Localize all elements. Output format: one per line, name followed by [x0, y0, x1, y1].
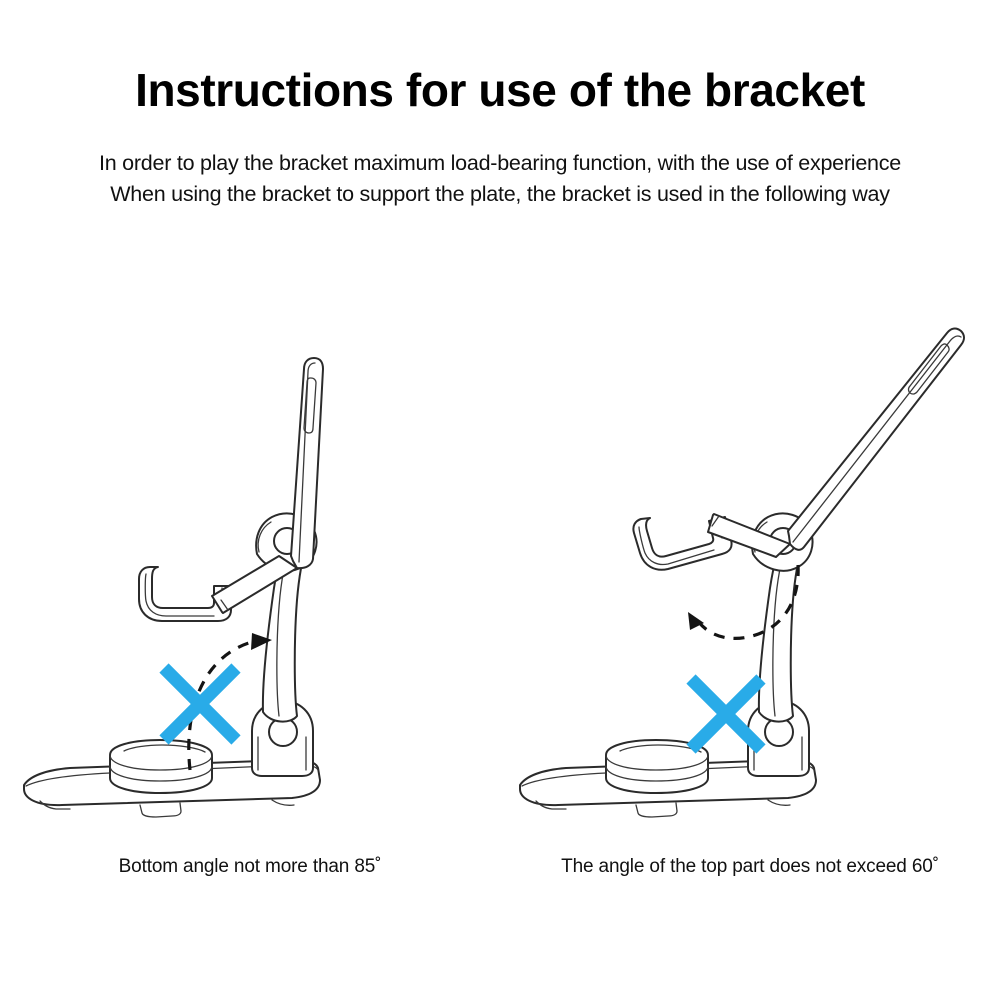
charging-puck-disc	[110, 740, 212, 793]
bracket-diagram-bottom-angle	[0, 300, 500, 860]
instruction-sheet: Instructions for use of the bracket In o…	[0, 0, 1000, 1000]
subtitle-block: In order to play the bracket maximum loa…	[0, 116, 1000, 212]
not-allowed-x-icon	[164, 668, 236, 740]
caption-top-angle: The angle of the top part does not excee…	[500, 855, 1000, 880]
figure-row: Bottom angle not more than 85˚	[0, 300, 1000, 920]
figure-bottom-angle: Bottom angle not more than 85˚	[0, 300, 500, 920]
back-support-plate	[708, 329, 964, 557]
not-allowed-x-icon	[691, 679, 761, 749]
subtitle-line-2: When using the bracket to support the pl…	[0, 179, 1000, 211]
bracket-diagram-top-angle	[500, 300, 1000, 860]
back-support-plate	[212, 358, 323, 613]
header: Instructions for use of the bracket In o…	[0, 0, 1000, 211]
subtitle-line-1: In order to play the bracket maximum loa…	[0, 148, 1000, 180]
caption-bottom-angle: Bottom angle not more than 85˚	[0, 855, 500, 880]
figure-top-angle: The angle of the top part does not excee…	[500, 300, 1000, 920]
page-title: Instructions for use of the bracket	[0, 0, 1000, 116]
